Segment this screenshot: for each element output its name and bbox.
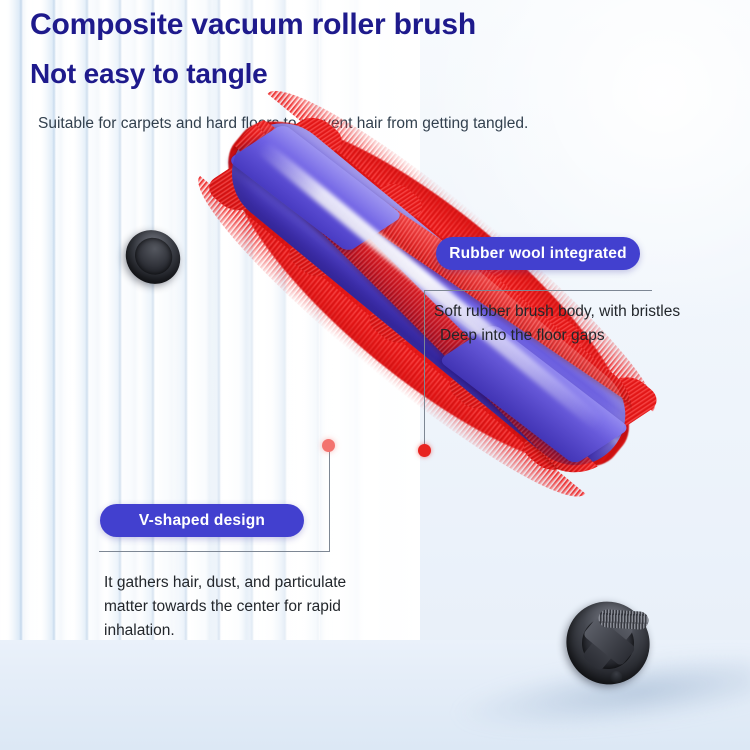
callout-v-frame-right	[329, 446, 330, 552]
callout-v-marker-dot	[322, 439, 335, 452]
callout-badge-rubber-wool[interactable]: Rubber wool integrated	[436, 237, 640, 270]
callout-rubber-line2: Deep into the floor gaps	[434, 324, 680, 348]
callout-rubber-frame-top	[424, 290, 652, 291]
callout-rubber-frame-left	[424, 290, 425, 452]
knurled-ring	[598, 609, 649, 630]
callout-badge-v-shaped[interactable]: V-shaped design	[100, 504, 304, 537]
callout-text-rubber-wool: Soft rubber brush body, with bristles De…	[434, 300, 680, 348]
callout-rubber-marker-dot	[418, 444, 431, 457]
page-title-line1: Composite vacuum roller brush	[30, 8, 476, 42]
product-infographic: Composite vacuum roller brush Not easy t…	[0, 0, 750, 750]
callout-rubber-line1: Soft rubber brush body, with bristles	[434, 300, 680, 324]
callout-text-v-shaped: It gathers hair, dust, and particulate m…	[104, 571, 374, 643]
callout-v-frame-bottom	[99, 551, 330, 552]
page-title-line2: Not easy to tangle	[30, 58, 268, 90]
